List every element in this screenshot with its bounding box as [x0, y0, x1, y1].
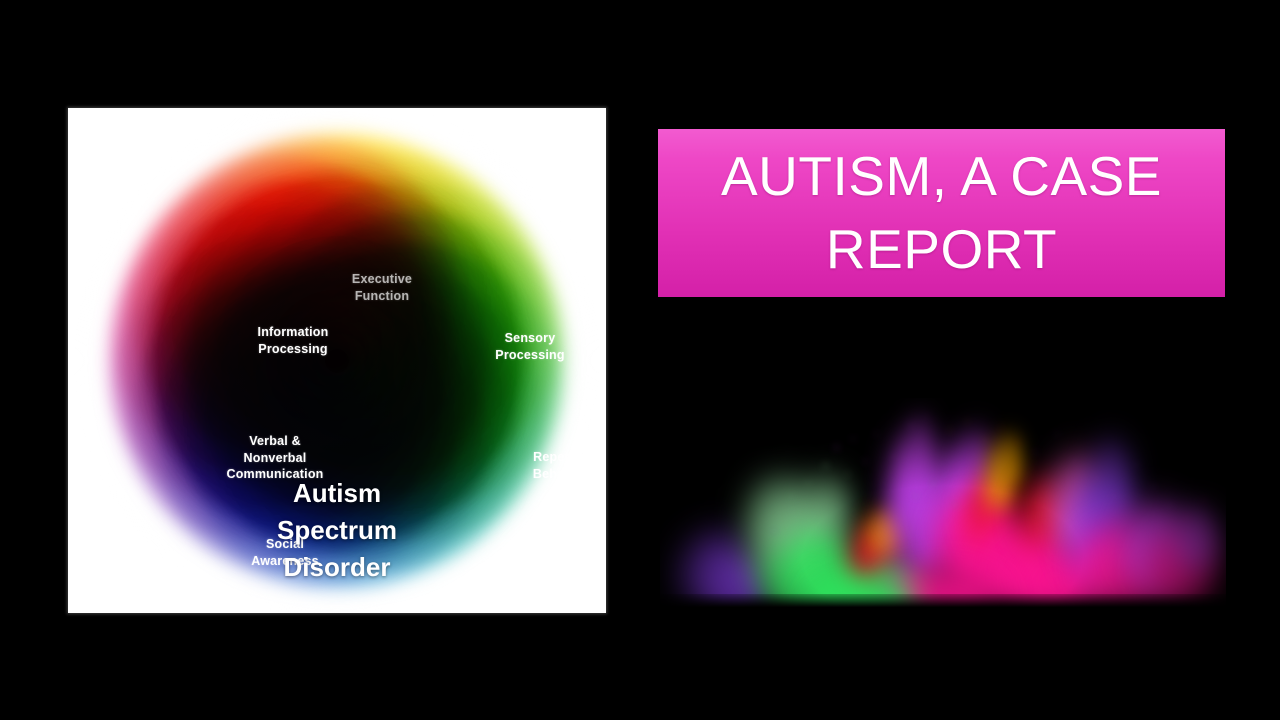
slide-canvas: Executive Function Information Processin… [0, 0, 1280, 720]
powder-speck [1073, 460, 1075, 462]
wheel-graphic [102, 126, 572, 596]
powder-speck [1135, 464, 1137, 466]
powder-speck [949, 429, 951, 431]
powder-speck [1056, 433, 1058, 435]
powder-floor-shadow [660, 594, 1226, 618]
color-powder-explosion-image [660, 398, 1226, 618]
autism-spectrum-wheel-image: Executive Function Information Processin… [68, 108, 606, 613]
powder-speck [852, 438, 854, 440]
powder-speck [1017, 442, 1019, 444]
powder-speck [847, 473, 849, 475]
powder-puff [998, 424, 1024, 486]
wheel-petal-ring [102, 126, 572, 596]
powder-speck [875, 433, 877, 435]
powder-speck [807, 482, 809, 484]
powder-speck [1113, 495, 1115, 497]
powder-speck [915, 495, 917, 497]
powder-speck [966, 420, 968, 422]
powder-speck [926, 416, 928, 418]
powder-speck [1152, 486, 1154, 488]
powder-speck [983, 438, 985, 440]
powder-puff [807, 466, 853, 532]
powder-speck [932, 482, 934, 484]
powder-speck [835, 446, 838, 449]
powder-puff [1170, 499, 1226, 569]
powder-puff [743, 468, 803, 548]
powder-speck [864, 460, 866, 462]
powder-speck [790, 495, 792, 497]
slide-title: AUTISM, A CASE REPORT [705, 140, 1178, 286]
powder-speck [1034, 451, 1036, 453]
powder-speck [1000, 427, 1002, 429]
title-banner: AUTISM, A CASE REPORT [658, 129, 1225, 297]
